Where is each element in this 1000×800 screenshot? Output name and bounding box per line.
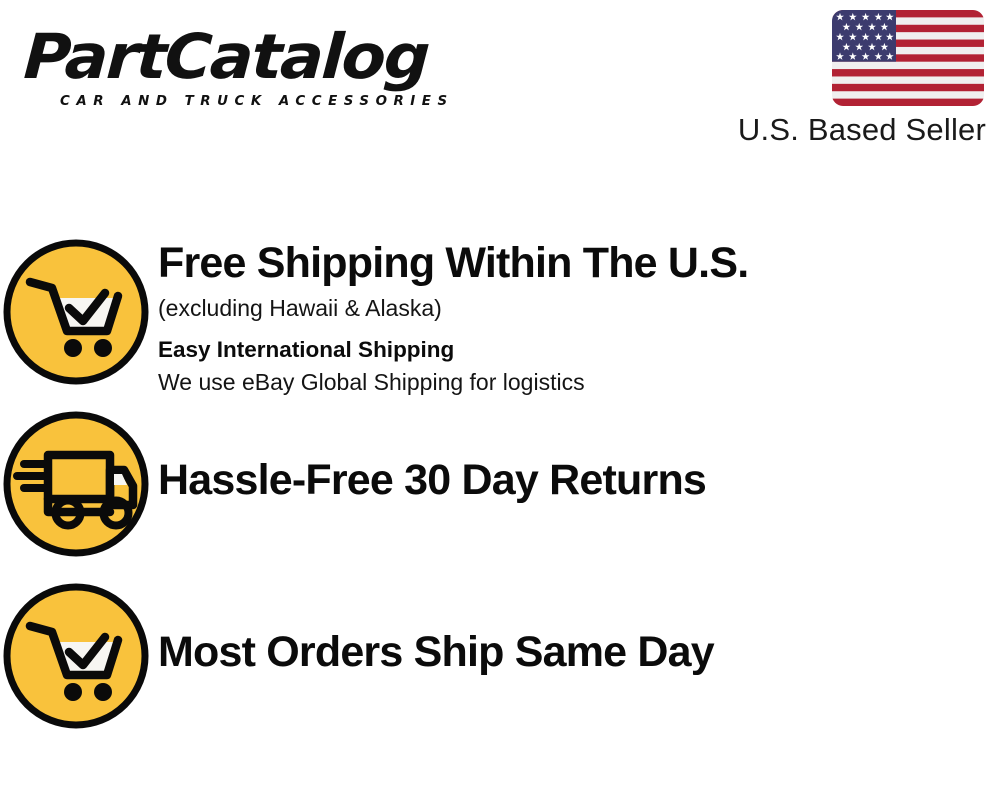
us-flag-icon [832, 10, 984, 106]
feature-text-block: Hassle-Free 30 Day Returns [152, 408, 1000, 505]
feature-subtitle: Easy International Shipping [158, 335, 1000, 365]
feature-title: Free Shipping Within The U.S. [158, 238, 1000, 288]
brand-wordmark: PartCatalog [22, 22, 515, 92]
brand-tagline: CAR AND TRUCK ACCESSORIES [60, 93, 490, 109]
feature-note: (excluding Hawaii & Alaska) [158, 293, 1000, 324]
us-based-seller-badge: U.S. Based Seller [714, 10, 986, 148]
shopping-cart-check-icon [0, 236, 152, 388]
feature-text-block: Most Orders Ship Same Day [152, 580, 1000, 677]
feature-title: Most Orders Ship Same Day [158, 627, 1000, 677]
feature-icon-badge [0, 580, 152, 732]
feature-icon-badge [0, 408, 152, 560]
delivery-truck-icon [0, 408, 152, 560]
feature-row: Free Shipping Within The U.S. (excluding… [0, 236, 1000, 398]
shopping-cart-check-icon [0, 580, 152, 732]
page-header: PartCatalog CAR AND TRUCK ACCESSORIES [0, 0, 1000, 180]
feature-text-block: Free Shipping Within The U.S. (excluding… [152, 236, 1000, 398]
feature-title: Hassle-Free 30 Day Returns [158, 455, 1000, 505]
feature-icon-badge [0, 236, 152, 388]
us-based-seller-label: U.S. Based Seller [714, 112, 986, 148]
feature-detail: We use eBay Global Shipping for logistic… [158, 367, 1000, 398]
feature-row: Most Orders Ship Same Day [0, 580, 1000, 732]
brand-logo[interactable]: PartCatalog CAR AND TRUCK ACCESSORIES [24, 22, 494, 109]
feature-row: Hassle-Free 30 Day Returns [0, 408, 1000, 560]
